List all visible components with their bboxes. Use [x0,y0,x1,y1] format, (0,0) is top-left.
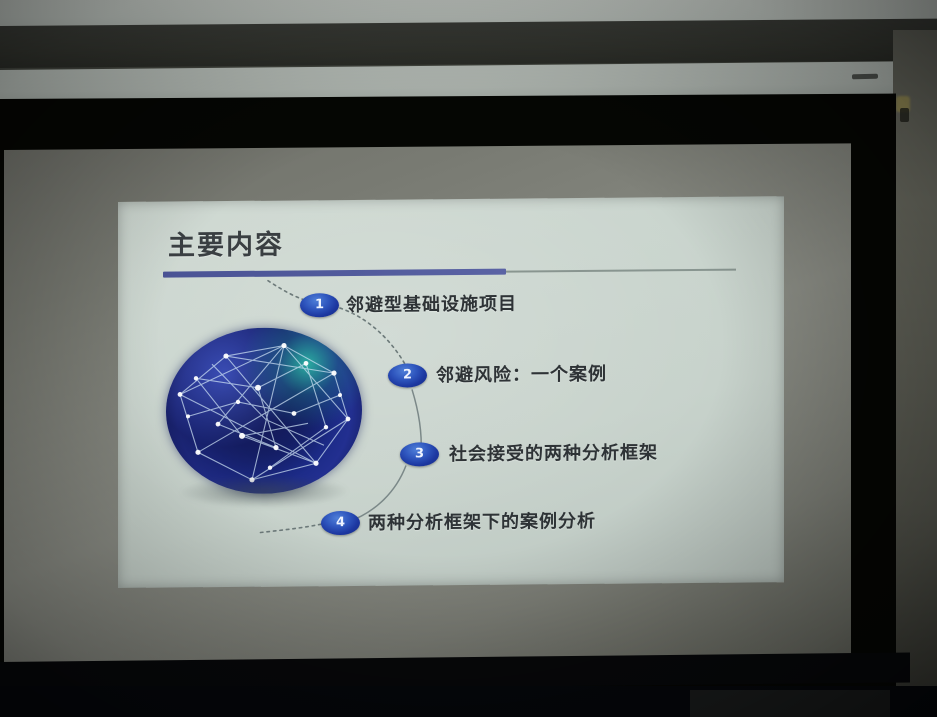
title-underline-thin [506,269,736,273]
list-item-number-badge: 1 [300,293,339,317]
slide-title: 主要内容 [168,223,284,263]
presentation-slide: 主要内容 [118,196,784,588]
globe-sphere [166,327,362,495]
list-item-number-badge: 3 [400,442,439,466]
list-item-number-badge: 2 [388,363,427,387]
globe-drop-shadow [180,475,348,508]
wall-bracket [900,108,909,122]
globe-mesh-icon [166,327,362,495]
title-underline-accent [163,269,506,278]
photo-scene: 主要内容 [0,0,937,717]
list-item-label: 两种分析框架下的案例分析 [368,507,596,535]
list-item-label: 社会接受的两种分析框架 [449,438,658,466]
list-item-number-badge: 4 [321,511,360,535]
list-item-label: 邻避型基础设施项目 [346,290,517,317]
wall-right-panel [893,30,937,717]
screen-foot-shadow [690,690,890,717]
list-item-label: 邻避风险：一个案例 [436,360,607,387]
network-globe-graphic [160,325,368,517]
wall-scuff-mark [852,74,878,80]
